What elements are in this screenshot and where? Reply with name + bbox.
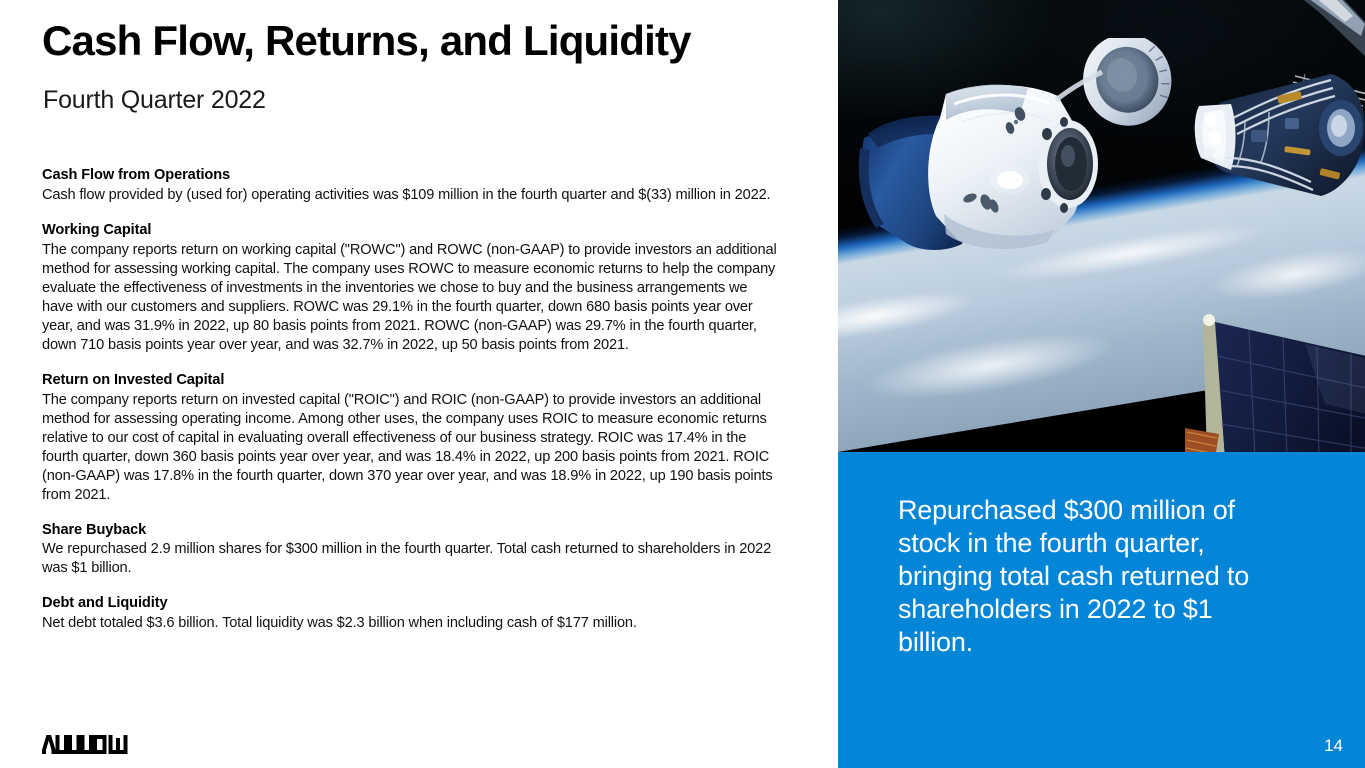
section-body: Cash flow provided by (used for) operati…: [42, 186, 782, 205]
spacecraft-docking-photo: [838, 0, 1365, 452]
section-body: Net debt totaled $3.6 billion. Total liq…: [42, 614, 782, 633]
slide-root: Cash Flow, Returns, and Liquidity Fourth…: [0, 0, 1365, 768]
section-heading: Share Buyback: [42, 521, 782, 540]
page-number: 14: [1324, 736, 1343, 756]
iss-docking-module-icon: [1181, 62, 1365, 212]
report-sections: Cash Flow from Operations Cash flow prov…: [42, 166, 782, 633]
section-body: The company reports return on working ca…: [42, 241, 782, 355]
section-debt-and-liquidity: Debt and Liquidity Net debt totaled $3.6…: [42, 594, 782, 633]
solar-array-icon: [1185, 308, 1365, 452]
page-title: Cash Flow, Returns, and Liquidity: [42, 18, 691, 63]
section-heading: Return on Invested Capital: [42, 371, 782, 390]
callout-text: Repurchased $300 million of stock in the…: [898, 494, 1278, 659]
section-cash-flow-from-operations: Cash Flow from Operations Cash flow prov…: [42, 166, 782, 205]
highlight-callout-panel: Repurchased $300 million of stock in the…: [838, 452, 1365, 768]
dragon-capsule-icon: [850, 38, 1180, 288]
section-heading: Cash Flow from Operations: [42, 166, 782, 185]
section-body: The company reports return on invested c…: [42, 391, 782, 505]
page-subtitle: Fourth Quarter 2022: [43, 86, 266, 115]
section-share-buyback: Share Buyback We repurchased 2.9 million…: [42, 521, 782, 579]
section-working-capital: Working Capital The company reports retu…: [42, 221, 782, 355]
arrow-logo-icon: [42, 730, 136, 754]
section-return-on-invested-capital: Return on Invested Capital The company r…: [42, 371, 782, 505]
content-column: Cash Flow, Returns, and Liquidity Fourth…: [0, 0, 838, 768]
section-heading: Debt and Liquidity: [42, 594, 782, 613]
section-heading: Working Capital: [42, 221, 782, 240]
media-column: Repurchased $300 million of stock in the…: [838, 0, 1365, 768]
section-body: We repurchased 2.9 million shares for $3…: [42, 540, 782, 578]
